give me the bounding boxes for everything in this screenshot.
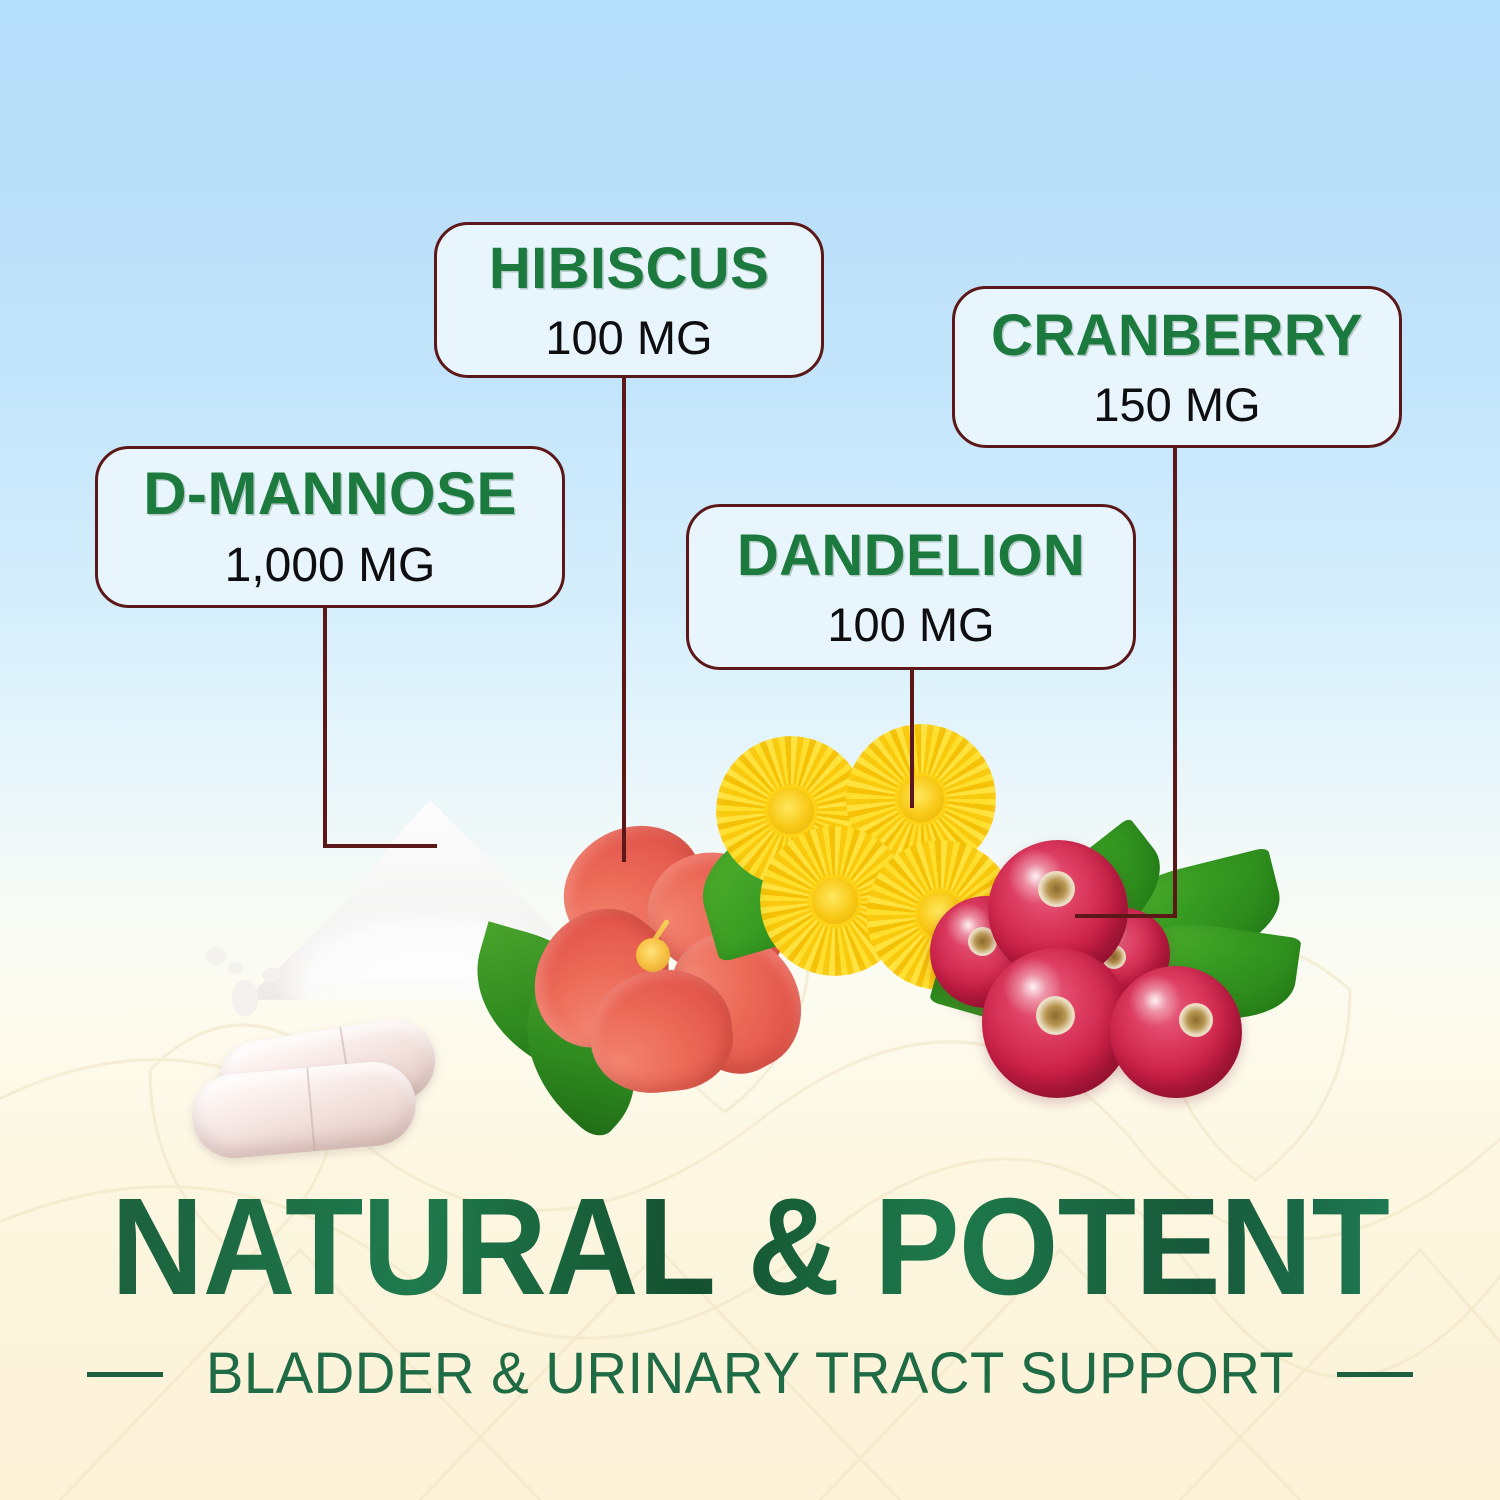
subtitle-rule-left bbox=[87, 1372, 163, 1377]
callout-d-mannose-dose: 1,000 MG bbox=[225, 542, 436, 590]
connector-hibiscus-vertical bbox=[622, 376, 626, 862]
callout-cranberry-name: CRANBERRY bbox=[991, 307, 1363, 365]
connector-cranberry-horizontal bbox=[1075, 914, 1177, 918]
page-headline: NATURAL & POTENT bbox=[53, 1178, 1448, 1316]
callout-cranberry[interactable]: CRANBERRY 150 MG bbox=[952, 286, 1402, 448]
callout-d-mannose[interactable]: D-MANNOSE 1,000 MG bbox=[95, 446, 565, 608]
callout-dandelion-name: DANDELION bbox=[737, 527, 1085, 585]
connector-d-mannose-vertical bbox=[323, 606, 327, 848]
connector-d-mannose-horizontal bbox=[323, 844, 437, 848]
callout-hibiscus-dose: 100 MG bbox=[545, 314, 712, 361]
callout-hibiscus[interactable]: HIBISCUS 100 MG bbox=[434, 222, 824, 378]
page-subtitle: BLADDER & URINARY TRACT SUPPORT bbox=[206, 1345, 1294, 1403]
hibiscus-flower-image bbox=[470, 820, 820, 1110]
callout-cranberry-dose: 150 MG bbox=[1093, 381, 1260, 428]
ingredient-photo-cluster bbox=[0, 700, 1500, 1170]
connector-cranberry-vertical bbox=[1173, 446, 1177, 918]
subtitle-rule-right bbox=[1337, 1372, 1413, 1377]
callout-dandelion[interactable]: DANDELION 100 MG bbox=[686, 504, 1136, 670]
callout-hibiscus-name: HIBISCUS bbox=[489, 240, 769, 298]
callout-dandelion-dose: 100 MG bbox=[827, 601, 994, 648]
connector-dandelion-vertical bbox=[910, 668, 914, 808]
callout-d-mannose-name: D-MANNOSE bbox=[143, 464, 517, 524]
subtitle-row: BLADDER & URINARY TRACT SUPPORT bbox=[0, 1345, 1500, 1403]
